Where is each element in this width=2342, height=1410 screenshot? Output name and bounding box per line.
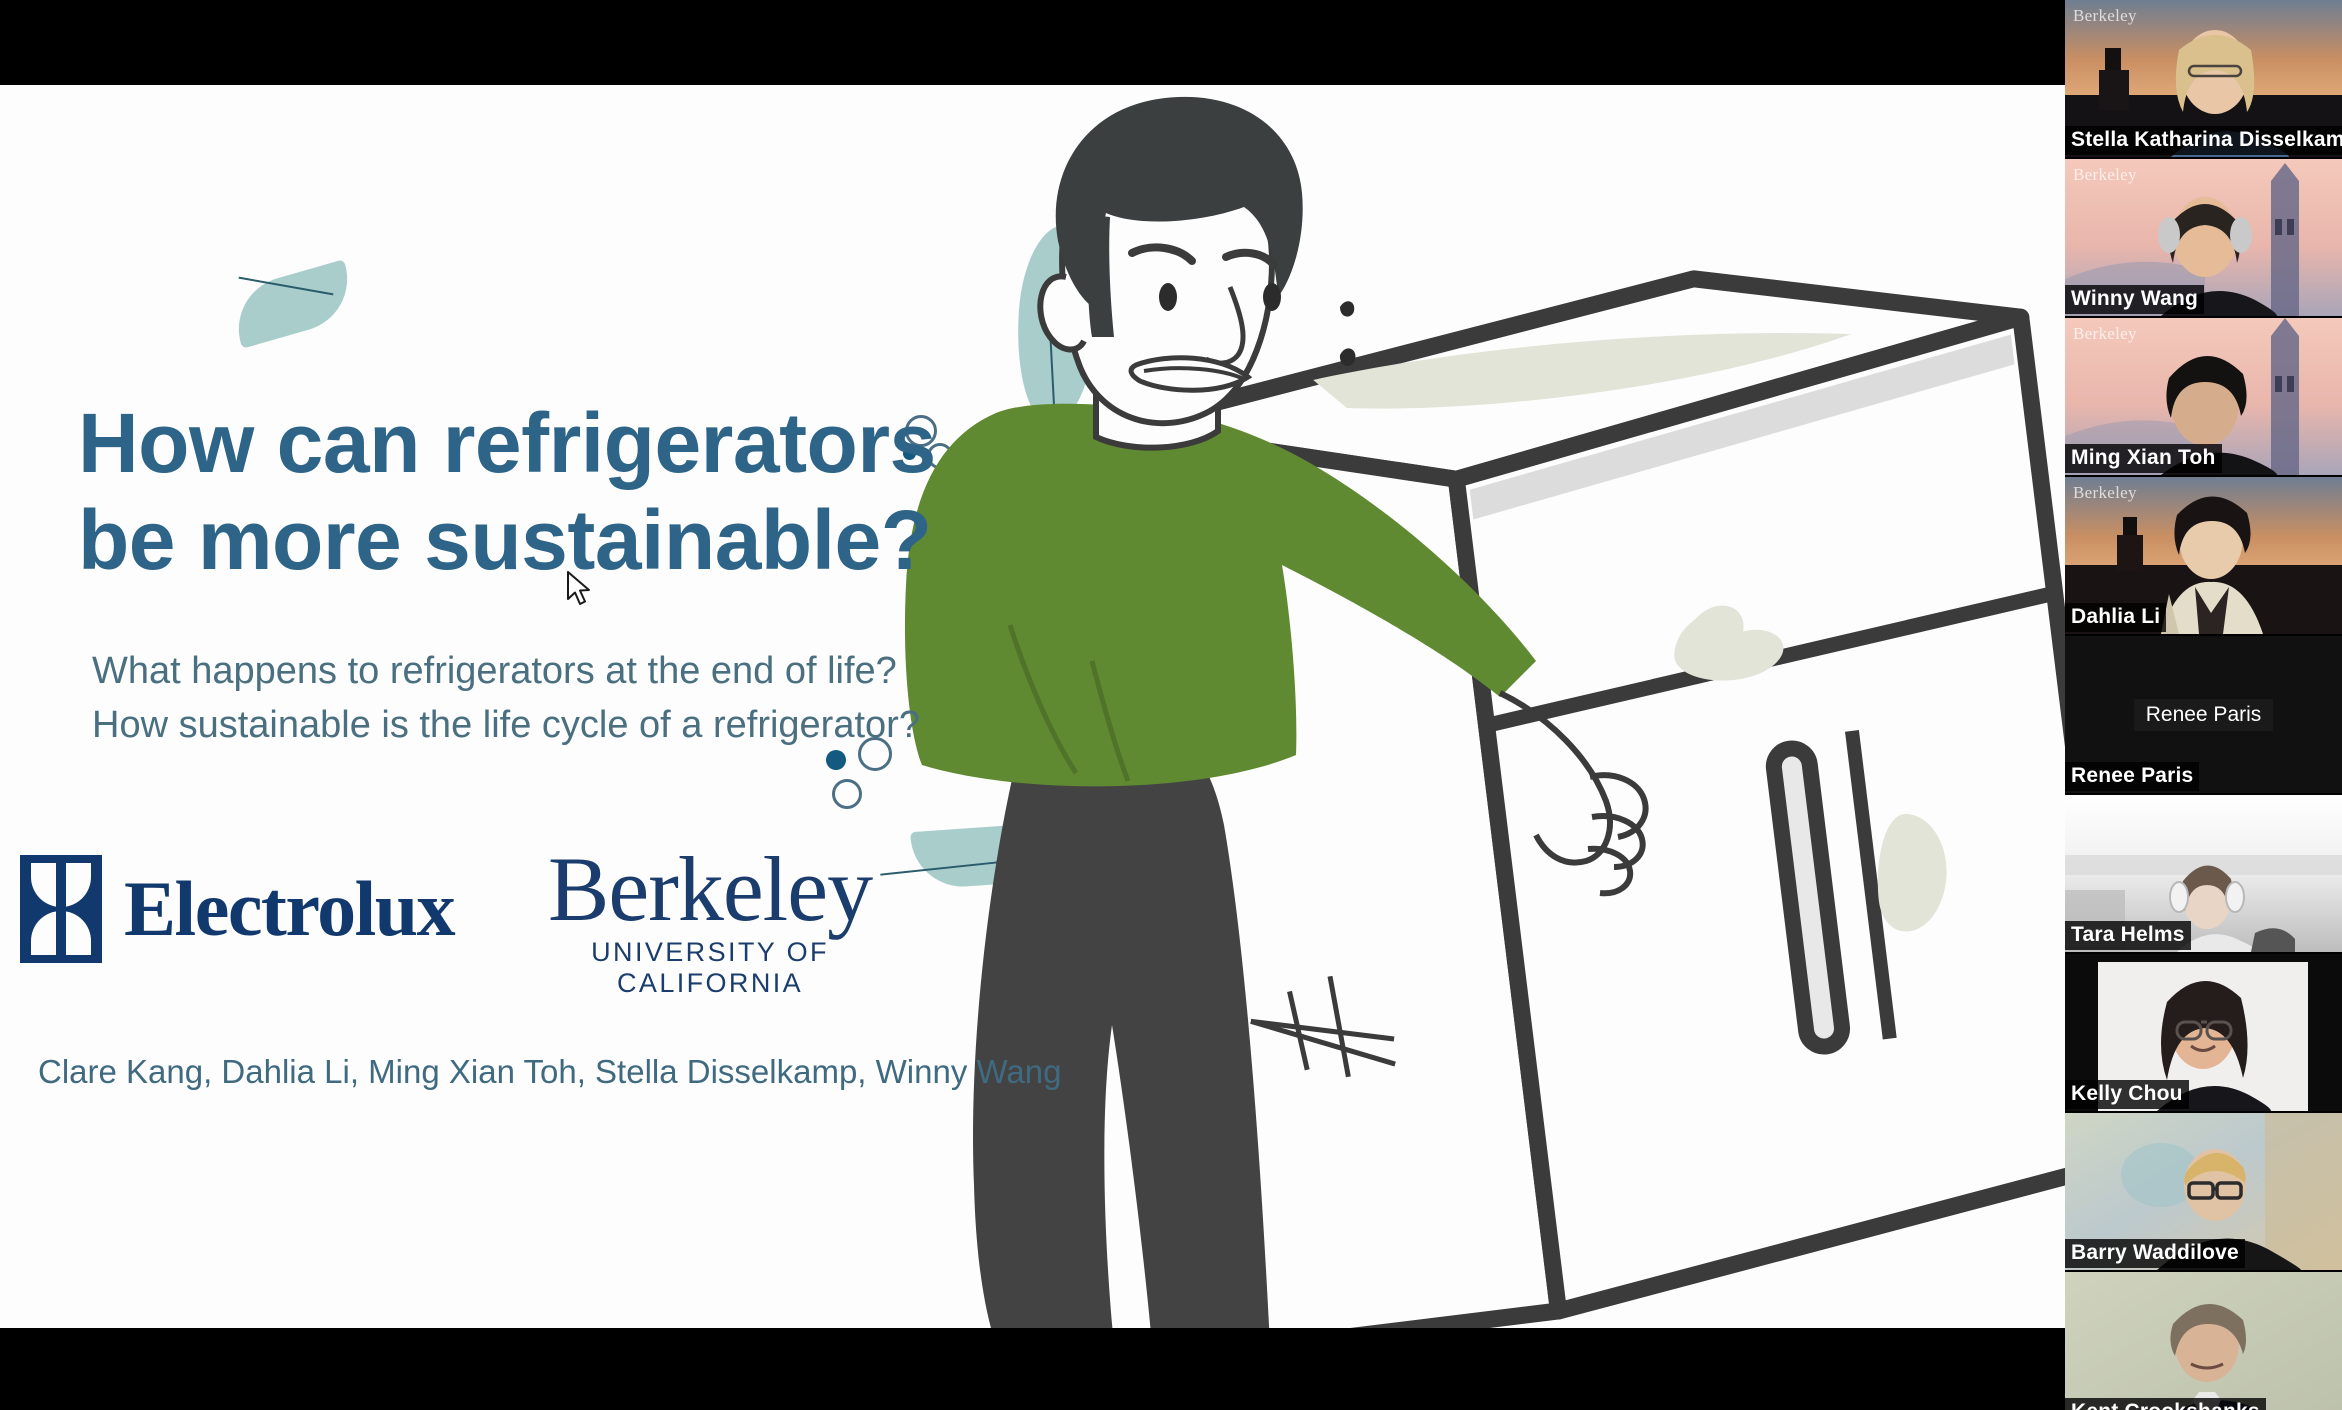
electrolux-wordmark: Electrolux (124, 870, 454, 948)
berkeley-watermark: Berkeley (2073, 483, 2137, 503)
slide-title-line-2: be more sustainable? (78, 492, 1018, 589)
participant-name: Ming Xian Toh (2065, 444, 2222, 473)
participant-name: Stella Katharina Disselkamp (2065, 126, 2342, 155)
berkeley-watermark: Berkeley (2073, 6, 2137, 26)
man-pushing-refrigerator-illustration (900, 85, 2065, 1328)
participant-video (2065, 1272, 2342, 1410)
participant-name: Tara Helms (2065, 921, 2191, 950)
participant-name: Kent Crookshanks (2065, 1398, 2266, 1410)
participant-tile[interactable]: Kent Crookshanks (2065, 1272, 2342, 1410)
berkeley-logo: Berkeley UNIVERSITY OF CALIFORNIA (548, 845, 872, 999)
electrolux-logo: Electrolux (20, 855, 454, 963)
berkeley-wordmark: Berkeley (548, 845, 872, 933)
slide-title: How can refrigerators be more sustainabl… (78, 395, 1018, 590)
slide-subtitle-line-2: How sustainable is the life cycle of a r… (92, 699, 1052, 753)
participant-tile[interactable]: Barry Waddilove (2065, 1113, 2342, 1272)
participant-name: Dahlia Li (2065, 603, 2166, 632)
circle-dot-decoration-2 (826, 750, 846, 770)
participant-tile[interactable]: Kelly Chou (2065, 954, 2342, 1113)
participant-name: Kelly Chou (2065, 1080, 2189, 1109)
participant-name: Renee Paris (2065, 762, 2199, 791)
participant-tile[interactable]: Renee Paris Renee Paris (2065, 636, 2342, 795)
circle-ring-decoration-4 (832, 779, 862, 809)
berkeley-watermark: Berkeley (2073, 324, 2137, 344)
participant-name: Winny Wang (2065, 285, 2204, 314)
participant-name: Barry Waddilove (2065, 1239, 2245, 1268)
participant-tile[interactable]: Tara Helms (2065, 795, 2342, 954)
electrolux-mark-bar (56, 863, 66, 955)
participant-tile[interactable]: Berkeley Dahlia Li (2065, 477, 2342, 636)
participant-name-placeholder: Renee Paris (2134, 699, 2274, 731)
berkeley-watermark: Berkeley (2073, 165, 2137, 185)
electrolux-logo-mark-icon (20, 855, 102, 963)
video-conference-screen-share: How can refrigerators be more sustainabl… (0, 0, 2342, 1410)
slide-authors: Clare Kang, Dahlia Li, Ming Xian Toh, St… (38, 1053, 1061, 1091)
participant-tile[interactable]: Berkeley Winny Wang (2065, 159, 2342, 318)
slide-subtitle: What happens to refrigerators at the end… (92, 645, 1052, 753)
participant-tile[interactable]: Berkeley Stella Katharina Disselkamp (2065, 0, 2342, 159)
participant-tile[interactable]: Berkeley Ming Xian Toh (2065, 318, 2342, 477)
slide-title-line-1: How can refrigerators (78, 395, 1018, 492)
berkeley-logo-subtitle: UNIVERSITY OF CALIFORNIA (548, 937, 872, 999)
slide-subtitle-line-1: What happens to refrigerators at the end… (92, 645, 1052, 699)
shared-screen-stage: How can refrigerators be more sustainabl… (0, 0, 2065, 1410)
leaf-decoration-top-left (226, 259, 359, 348)
participant-filmstrip[interactable]: Berkeley Stella Katharina Disselkamp (2065, 0, 2342, 1410)
presentation-slide: How can refrigerators be more sustainabl… (0, 85, 2065, 1328)
